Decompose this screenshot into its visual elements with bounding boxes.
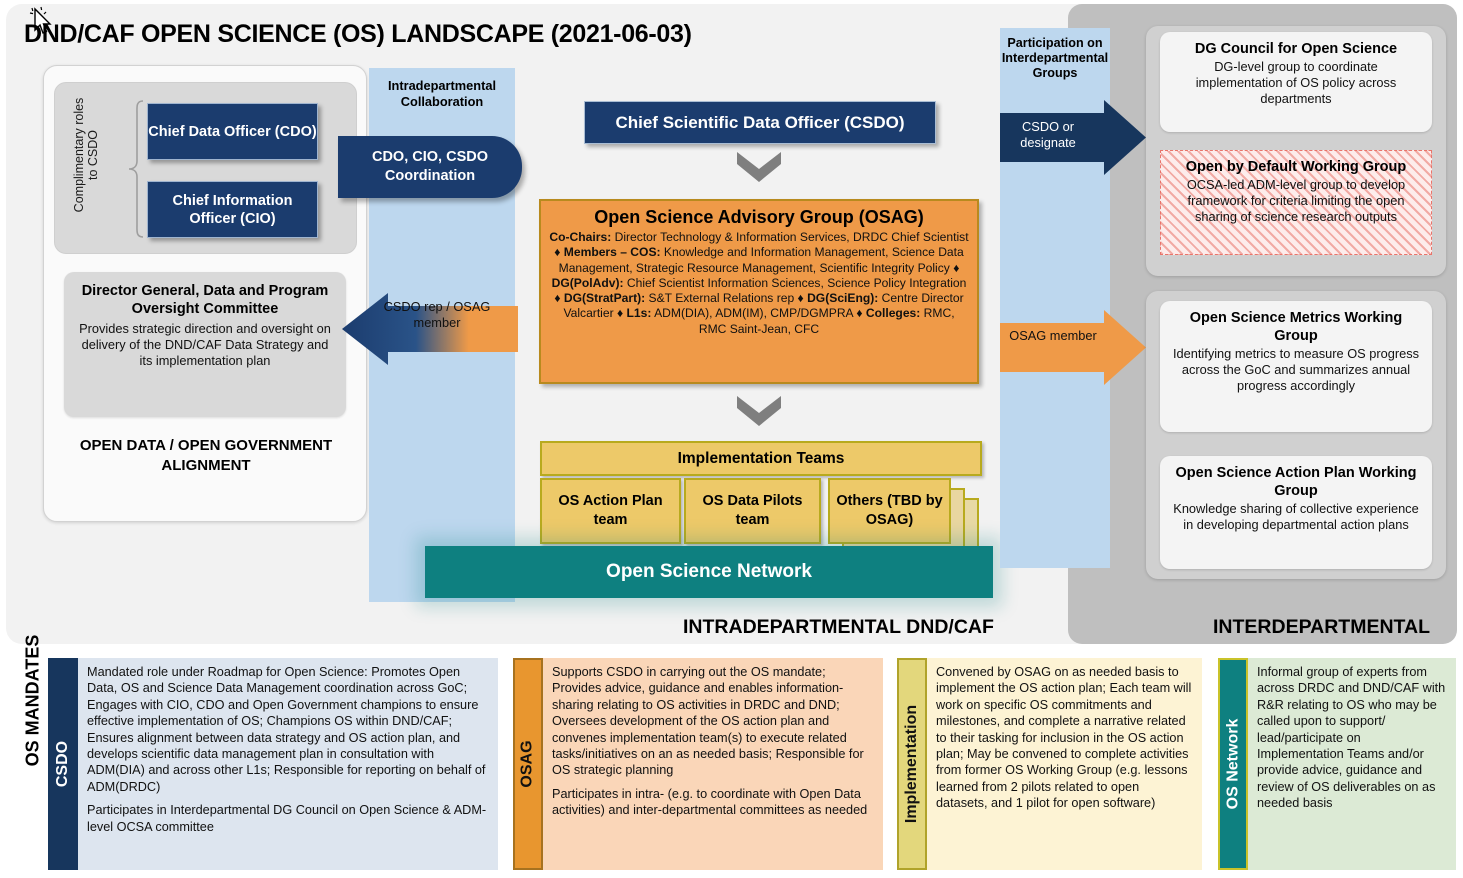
participation-band-label: Participation on Interdepartmental Group… [996,36,1114,81]
mandate-paragraph: Convened by OSAG on as needed basis to i… [936,664,1194,812]
mandate-tab-implementation: Implementation [897,658,927,870]
mandate-tab-label: OSAG [519,740,537,787]
mandate-paragraph: Participates in Interdepartmental DG Cou… [87,802,490,835]
chief-scientific-data-officer-box[interactable]: Chief Scientific Data Officer (CSDO) [584,101,936,144]
chief-information-officer-box[interactable]: Chief Information Officer (CIO) [147,181,318,238]
dg-data-program-oversight-box[interactable]: Director General, Data and Program Overs… [64,272,346,417]
dg-council-card[interactable]: DG Council for Open Science DG-level gro… [1160,32,1432,132]
dg-council-body: DG-level group to coordinate implementat… [1170,59,1422,107]
intradepartmental-footer-label: INTRADEPARTMENTAL DND/CAF [683,616,994,639]
mandate-body-csdo: Mandated role under Roadmap for Open Sci… [78,658,498,870]
mandate-tab-label: Implementation [903,705,921,823]
dg-council-title: DG Council for Open Science [1170,40,1422,58]
open-by-default-body: OCSA-led ADM-level group to develop fram… [1169,177,1423,225]
mandate-card-csdo[interactable]: CSDO Mandated role under Roadmap for Ope… [48,658,498,870]
open-by-default-title: Open by Default Working Group [1169,158,1423,176]
open-data-alignment-label: OPEN DATA / OPEN GOVERNMENT ALIGNMENT [58,436,354,476]
osag-box[interactable]: Open Science Advisory Group (OSAG) Co-Ch… [539,199,979,384]
mandate-card-os-network[interactable]: OS Network Informal group of experts fro… [1218,658,1456,870]
mandate-tab-os-network: OS Network [1218,658,1248,870]
curly-brace-icon [127,99,145,239]
interdepartmental-footer-label: INTERDEPARTMENTAL [1213,616,1430,639]
chevron-down-icon [737,152,781,182]
os-mandates-title: OS MANDATES [23,601,44,801]
csdo-designate-label: CSDO or designate [1000,119,1096,151]
osag-membership-text: Co-Chairs: Director Technology & Informa… [549,230,969,337]
dg-box-title: Director General, Data and Program Overs… [76,282,334,318]
mandate-paragraph: Participates in intra- (e.g. to coordina… [552,786,875,819]
os-action-plan-wg-title: Open Science Action Plan Working Group [1170,464,1422,500]
mandate-tab-osag: OSAG [513,658,543,870]
open-science-network-bar[interactable]: Open Science Network [425,546,993,598]
cdo-cio-csdo-coordination-flag[interactable]: CDO, CIO, CSDO Coordination [338,136,522,198]
chevron-down-icon [737,396,781,426]
mandate-body-implementation: Convened by OSAG on as needed basis to i… [927,658,1202,870]
os-metrics-wg-body: Identifying metrics to measure OS progre… [1170,346,1422,394]
osag-member-label: OSAG member [1005,328,1101,344]
mandate-paragraph: Informal group of experts from across DR… [1257,664,1448,812]
os-action-plan-wg-body: Knowledge sharing of collective experien… [1170,501,1422,533]
diagram-root: DND/CAF OPEN SCIENCE (OS) LANDSCAPE (202… [0,0,1463,878]
mandate-tab-label: CSDO [54,741,72,787]
mandate-body-osag: Supports CSDO in carrying out the OS man… [543,658,883,870]
open-by-default-card[interactable]: Open by Default Working Group OCSA-led A… [1160,150,1432,255]
mandate-tab-label: OS Network [1224,719,1242,810]
intradepartmental-collaboration-label: Intradepartmental Collaboration [369,78,515,110]
page-title: DND/CAF OPEN SCIENCE (OS) LANDSCAPE (202… [24,20,692,49]
mandate-paragraph: Mandated role under Roadmap for Open Sci… [87,664,490,795]
os-metrics-wg-card[interactable]: Open Science Metrics Working Group Ident… [1160,301,1432,432]
mandate-card-osag[interactable]: OSAG Supports CSDO in carrying out the O… [513,658,883,870]
others-tbd-by-osag-box[interactable]: Others (TBD by OSAG) [828,478,951,544]
complimentary-roles-label: Complimentary roles to CSDO [72,96,100,214]
csdo-rep-osag-member-label: CSDO rep / OSAG member [382,299,492,331]
osag-member-arrow [1000,310,1146,385]
mandate-tab-csdo: CSDO [48,658,78,870]
mandate-body-os-network: Informal group of experts from across DR… [1248,658,1456,870]
dg-box-body: Provides strategic direction and oversig… [76,321,334,369]
os-metrics-wg-title: Open Science Metrics Working Group [1170,309,1422,345]
implementation-teams-header[interactable]: Implementation Teams [540,441,982,476]
mandate-card-implementation[interactable]: Implementation Convened by OSAG on as ne… [897,658,1202,870]
mandate-paragraph: Supports CSDO in carrying out the OS man… [552,664,875,779]
os-action-plan-wg-card[interactable]: Open Science Action Plan Working Group K… [1160,456,1432,569]
complimentary-roles-box: Complimentary roles to CSDO Chief Data O… [54,82,357,254]
open-data-alignment-card: Complimentary roles to CSDO Chief Data O… [43,65,367,522]
chief-data-officer-box[interactable]: Chief Data Officer (CDO) [147,103,318,160]
os-data-pilots-team-box[interactable]: OS Data Pilots team [684,478,821,544]
osag-title: Open Science Advisory Group (OSAG) [549,206,969,229]
os-action-plan-team-box[interactable]: OS Action Plan team [540,478,681,544]
